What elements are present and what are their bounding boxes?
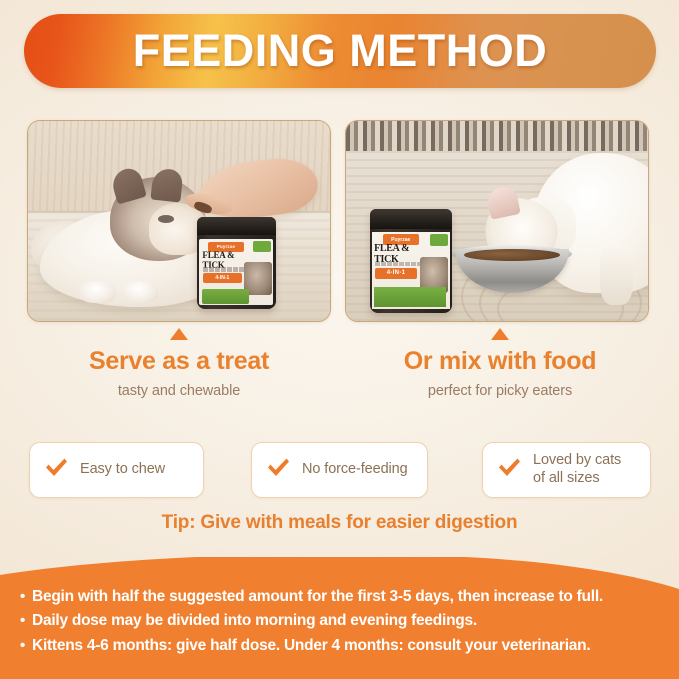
benefit-line-2: of all sizes	[533, 470, 600, 486]
tip-text: Tip: Give with meals for easier digestio…	[0, 512, 679, 534]
footer-bullet-item: • Begin with half the suggested amount f…	[20, 585, 665, 609]
bullet-icon: •	[20, 585, 25, 609]
bullet-icon: •	[20, 609, 25, 633]
scene-cat-hand-treat: Puyrzae FLEA & TICK 4-IN-1	[28, 121, 330, 321]
checkmark-icon	[497, 457, 522, 483]
jar-4in1-badge: 4-IN-1	[375, 268, 417, 279]
product-jar: Puyrzae FLEA & TICK 4-IN-1	[197, 217, 276, 309]
benefit-chip-easy-to-chew: Easy to chew	[29, 442, 204, 498]
footer-bullet-list: • Begin with half the suggested amount f…	[20, 585, 665, 658]
header-pill: FEEDING METHOD	[24, 14, 656, 88]
cat-paw-left	[79, 281, 115, 303]
footer-bullet-item: • Kittens 4-6 months: give half dose. Un…	[20, 634, 665, 658]
method-title: Or mix with food	[345, 347, 655, 376]
triangle-pointer-icon	[170, 328, 188, 340]
benefit-line-1: No force-feeding	[302, 461, 408, 477]
page-title: FEEDING METHOD	[133, 25, 548, 77]
method-block-2: Or mix with food perfect for picky eater…	[345, 328, 655, 399]
scene-cat-eating-bowl: Puyrzae FLEA & TICK 4-IN-1	[346, 121, 648, 321]
jar-lid	[370, 209, 452, 229]
benefit-chip-label: No force-feeding	[302, 461, 408, 479]
jar-label: Puyrzae FLEA & TICK 4-IN-1	[372, 232, 450, 309]
method-subtitle: perfect for picky eaters	[345, 383, 655, 399]
footer-bullet-text: Kittens 4-6 months: give half dose. Unde…	[32, 634, 590, 658]
benefit-line-1: Easy to chew	[80, 461, 165, 477]
jar-subtitle-line	[375, 262, 425, 267]
header-banner: FEEDING METHOD	[0, 0, 679, 104]
method-title: Serve as a treat	[24, 347, 334, 376]
footer-bullet-item: • Daily dose may be divided into morning…	[20, 609, 665, 633]
bowl-food	[464, 249, 561, 261]
product-jar: Puyrzae FLEA & TICK 4-IN-1	[370, 209, 452, 313]
photo-panel-serve-as-treat: Puyrzae FLEA & TICK 4-IN-1	[27, 120, 331, 322]
method-subtitle: tasty and chewable	[24, 383, 334, 399]
jar-lid	[197, 217, 276, 235]
footer-notes-bar: • Begin with half the suggested amount f…	[0, 557, 679, 679]
jar-label: Puyrzae FLEA & TICK 4-IN-1	[199, 239, 273, 305]
photo-panel-mix-with-food: Puyrzae FLEA & TICK 4-IN-1	[345, 120, 649, 322]
jar-4in1-badge: 4-IN-1	[203, 273, 241, 283]
photo-panel-row: Puyrzae FLEA & TICK 4-IN-1	[0, 120, 679, 324]
checkmark-icon	[266, 457, 291, 483]
background-rug-fringe	[346, 121, 648, 155]
checkmark-icon	[44, 457, 69, 483]
bullet-icon: •	[20, 634, 25, 658]
method-block-1: Serve as a treat tasty and chewable	[24, 328, 334, 399]
footer-bullet-text: Daily dose may be divided into morning a…	[32, 609, 477, 633]
benefit-line-1: Loved by cats	[533, 452, 621, 468]
benefit-chip-label: Easy to chew	[80, 461, 165, 479]
triangle-pointer-icon	[491, 328, 509, 340]
benefit-chip-row: Easy to chew No force-feeding Loved by c…	[0, 442, 679, 500]
footer-bullet-text: Begin with half the suggested amount for…	[32, 585, 603, 609]
benefit-chip-no-force-feeding: No force-feeding	[251, 442, 428, 498]
jar-green-footer	[374, 287, 446, 307]
jar-corner-badge	[253, 241, 271, 252]
cat-paw-right	[122, 281, 158, 303]
jar-subtitle-line	[203, 267, 249, 272]
method-headline-row: Serve as a treat tasty and chewable Or m…	[0, 328, 679, 420]
benefit-chip-loved-by-cats: Loved by cats of all sizes	[482, 442, 651, 498]
cat-front-leg	[600, 245, 633, 305]
jar-green-footer	[202, 289, 249, 304]
benefit-chip-label: Loved by cats of all sizes	[533, 452, 621, 487]
